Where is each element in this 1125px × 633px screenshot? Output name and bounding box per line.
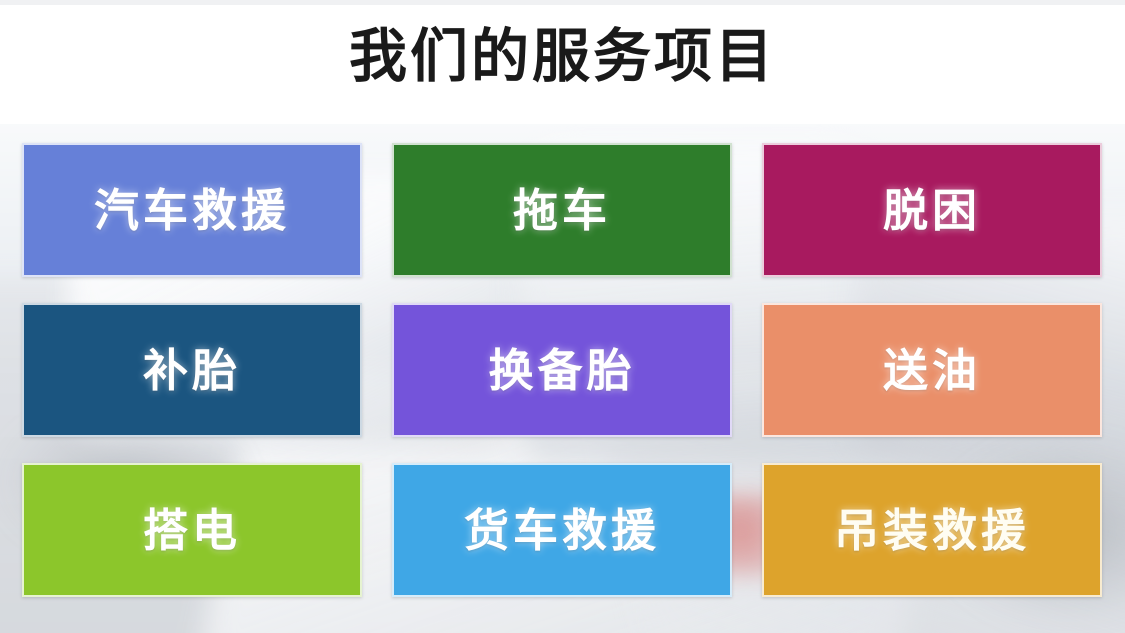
service-tile-label: 换备胎 xyxy=(488,348,635,393)
service-tile-label: 搭电 xyxy=(143,508,241,553)
service-tile-tire-repair[interactable]: 补胎 xyxy=(22,303,362,437)
service-tile-crane-rescue[interactable]: 吊装救援 xyxy=(762,463,1102,597)
service-tile-label: 货车救援 xyxy=(464,508,660,553)
service-tile-car-rescue[interactable]: 汽车救援 xyxy=(22,143,362,277)
service-tile-fuel-delivery[interactable]: 送油 xyxy=(762,303,1102,437)
service-tile-label: 补胎 xyxy=(143,348,241,393)
service-tile-grid: 汽车救援 拖车 脱困 补胎 换备胎 送油 搭电 货车救援 吊装救援 xyxy=(22,143,1103,597)
service-tile-label: 拖车 xyxy=(513,188,611,233)
service-tile-towing[interactable]: 拖车 xyxy=(392,143,732,277)
service-tile-label: 送油 xyxy=(883,348,981,393)
service-tile-jump-start[interactable]: 搭电 xyxy=(22,463,362,597)
page-title: 我们的服务项目 xyxy=(0,22,1125,90)
service-tile-label: 汽车救援 xyxy=(94,188,290,233)
service-tile-label: 吊装救援 xyxy=(834,508,1030,553)
service-tile-extrication[interactable]: 脱困 xyxy=(762,143,1102,277)
service-tile-truck-rescue[interactable]: 货车救援 xyxy=(392,463,732,597)
service-tile-label: 脱困 xyxy=(883,188,981,233)
service-poster: 我们的服务项目 汽车救援 拖车 脱困 补胎 换备胎 送油 搭电 货车救援 吊装救… xyxy=(0,0,1125,633)
service-tile-spare-tire-change[interactable]: 换备胎 xyxy=(392,303,732,437)
top-hairline xyxy=(0,0,1125,5)
